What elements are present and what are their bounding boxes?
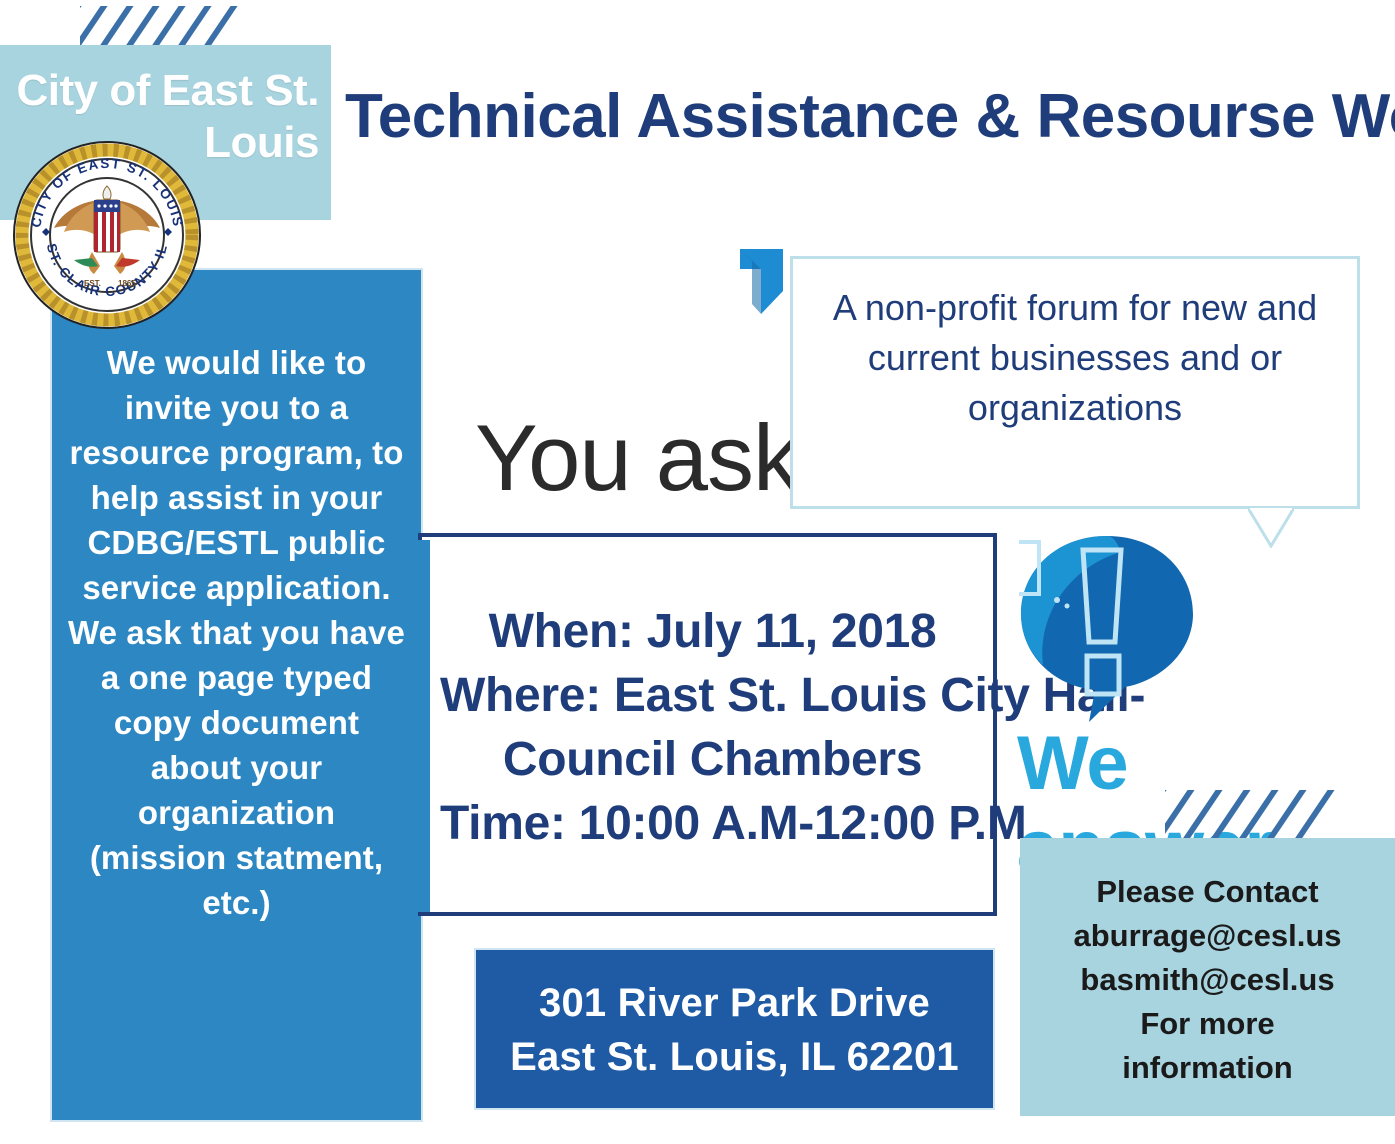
event-box-accent-bar [418,540,430,912]
page-title: Technical Assistance & Resourse Workshop [345,82,1390,152]
callout-tail-pointer [1248,508,1294,548]
address-line-1: 301 River Park Drive [476,976,993,1030]
you-ask-label: You ask. [475,408,824,508]
event-when-line: When: July 11, 2018 [440,600,985,664]
contact-email-1[interactable]: aburrage@cesl.us [1020,914,1395,958]
contact-footer-line-2: information [1020,1046,1395,1090]
invite-panel-text: We would like to invite you to a resourc… [50,268,423,1122]
seal-est-left: EST. [84,279,101,288]
flyer-canvas: City of East St. Louis CITY OF EAST ST. … [0,0,1395,1144]
contact-box: Please Contact aburrage@cesl.us basmith@… [1020,838,1395,1116]
exclamation-speech-bubble-icon [1017,532,1197,722]
address-line-2: East St. Louis, IL 62201 [476,1030,993,1084]
nonprofit-callout-text: A non-profit forum for new and current b… [790,256,1360,509]
ribbon-bookmark-icon [740,249,783,314]
event-where-line-1: Where: East St. Louis City Hall- [440,664,985,728]
contact-heading: Please Contact [1020,870,1395,914]
event-time-line: Time: 10:00 A.M-12:00 P.M [440,792,985,856]
contact-footer-line-1: For more [1020,1002,1395,1046]
seal-est-right: 1865 [118,279,136,288]
city-seal-logo: CITY OF EAST ST. LOUIS ST. CLAIR COUNTY … [12,140,202,330]
diagonal-stripes-bottom [1165,790,1365,838]
address-box: 301 River Park Drive East St. Louis, IL … [474,948,995,1110]
event-details-text: When: July 11, 2018 Where: East St. Loui… [440,600,985,856]
event-where-line-2: Council Chambers [440,728,985,792]
contact-email-2[interactable]: basmith@cesl.us [1020,958,1395,1002]
